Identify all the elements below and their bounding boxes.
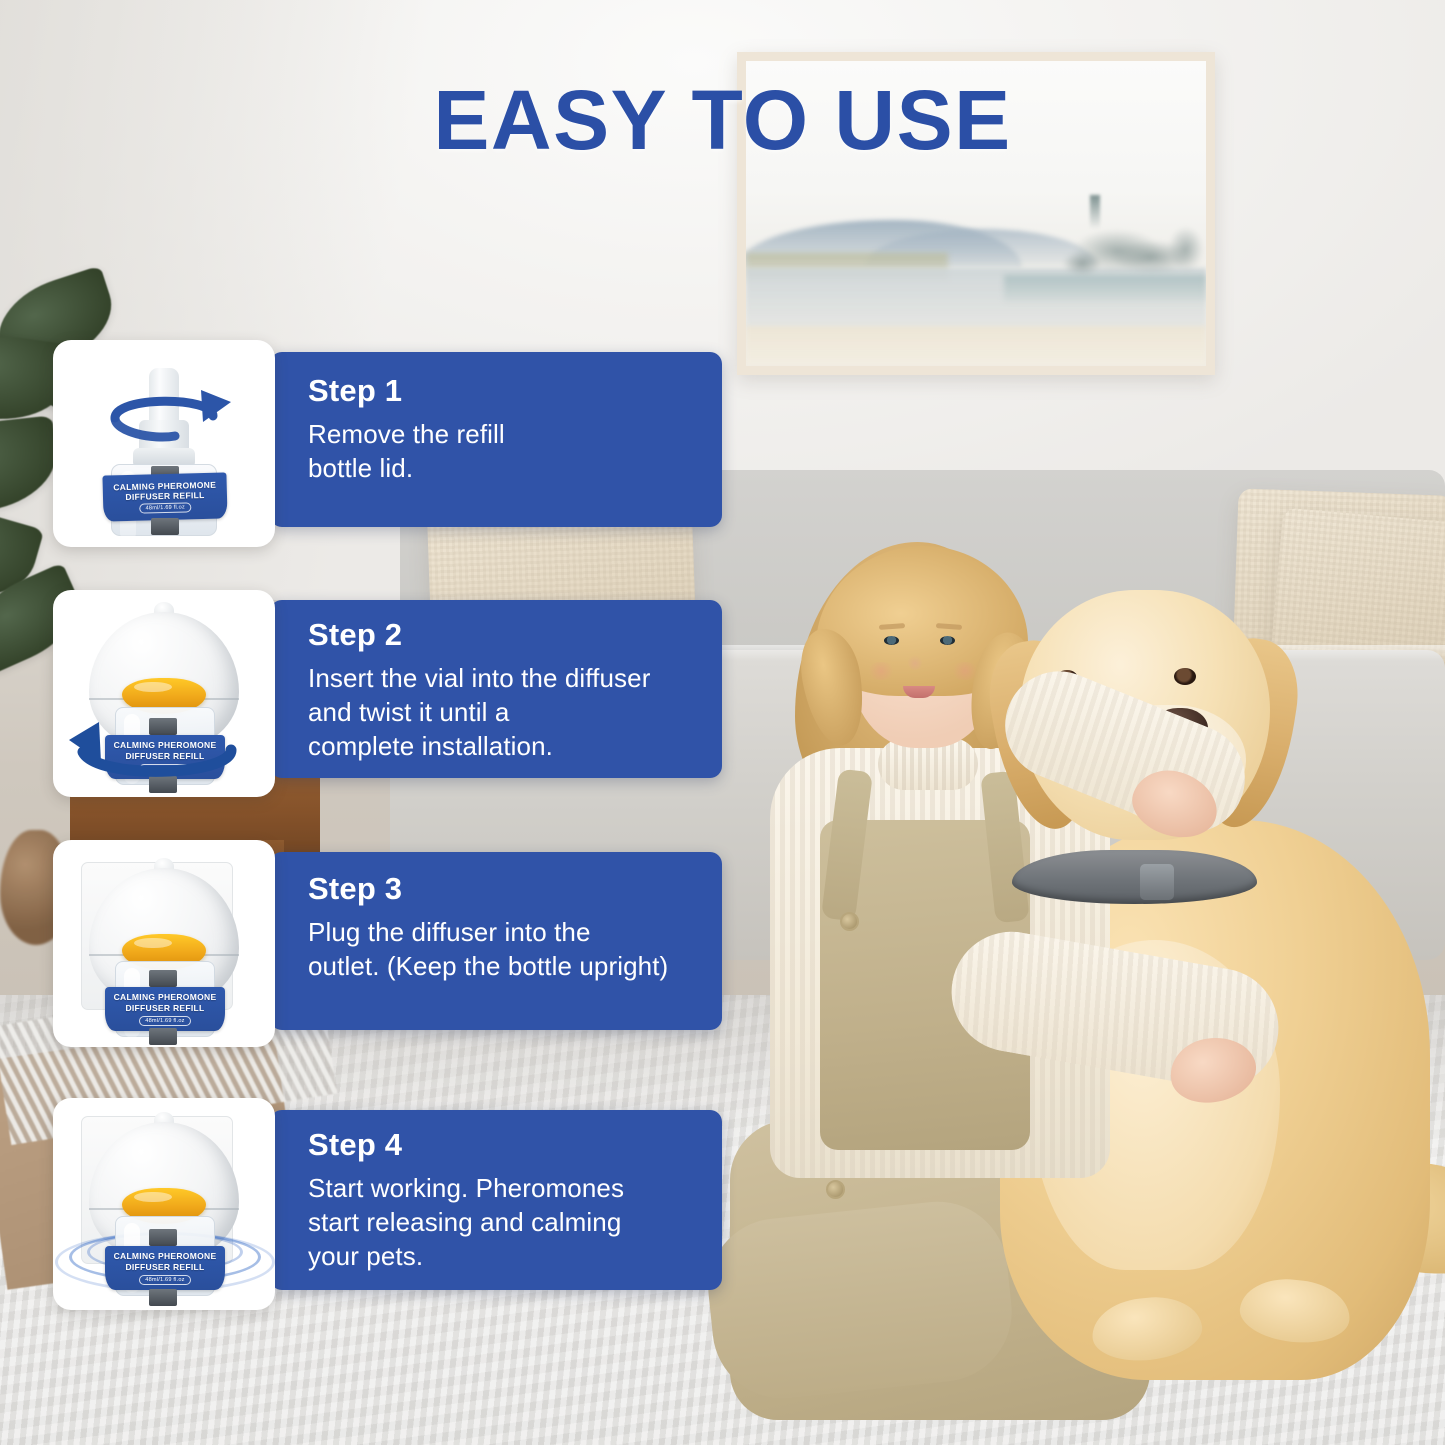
label-volume: 48ml/1.69 fl.oz — [139, 1275, 190, 1285]
refill-bottle-illustration: CALMING PHEROMONE DIFFUSER REFILL 48ml/1… — [53, 340, 275, 547]
label-line-2: DIFFUSER REFILL — [125, 751, 204, 761]
diffuser-working-illustration: CALMING PHEROMONE DIFFUSER REFILL 48ml/1… — [53, 1098, 275, 1310]
step-body-3: Plug the diffuser into the outlet. (Keep… — [308, 916, 696, 984]
label-line-1: CALMING PHEROMONE — [114, 1251, 217, 1261]
step-body-1: Remove the refill bottle lid. — [308, 418, 696, 486]
bottle-metal-clip — [149, 718, 177, 735]
label-line-2: DIFFUSER REFILL — [125, 1262, 204, 1272]
steps-list: Step 1 Remove the refill bottle lid. CAL… — [0, 0, 1445, 1445]
label-line-1: CALMING PHEROMONE — [114, 992, 217, 1002]
step-card-4[interactable]: Step 4 Start working. Pheromones start r… — [270, 1110, 722, 1290]
diffuser-plugged-illustration: CALMING PHEROMONE DIFFUSER REFILL 48ml/1… — [53, 840, 275, 1047]
bottle-label: CALMING PHEROMONE DIFFUSER REFILL 48ml/1… — [105, 1246, 225, 1290]
step-body-4: Start working. Pheromones start releasin… — [308, 1172, 696, 1273]
step-title-3: Step 3 — [308, 872, 696, 906]
bottle-metal-clip — [149, 1229, 177, 1246]
label-volume: 48ml/1.69 fl.oz — [139, 764, 190, 774]
step-thumbnail-3[interactable]: CALMING PHEROMONE DIFFUSER REFILL 48ml/1… — [53, 840, 275, 1047]
label-volume: 48ml/1.69 fl.oz — [139, 502, 191, 513]
infographic-canvas: EASY TO USE Step 1 Remove the refill bot… — [0, 0, 1445, 1445]
step-thumbnail-2[interactable]: CALMING PHEROMONE DIFFUSER REFILL 48ml/1… — [53, 590, 275, 797]
step-card-1[interactable]: Step 1 Remove the refill bottle lid. — [270, 352, 722, 527]
step-title-4: Step 4 — [308, 1128, 696, 1162]
bottle-metal-clip — [149, 970, 177, 987]
bottle-metal-clip — [149, 1028, 177, 1045]
step-thumbnail-4[interactable]: CALMING PHEROMONE DIFFUSER REFILL 48ml/1… — [53, 1098, 275, 1310]
label-line-2: DIFFUSER REFILL — [125, 490, 204, 502]
bottle-nozzle — [149, 368, 179, 428]
label-line-1: CALMING PHEROMONE — [114, 740, 217, 750]
step-card-3[interactable]: Step 3 Plug the diffuser into the outlet… — [270, 852, 722, 1030]
bottle-metal-clip — [151, 518, 179, 535]
bottle-label: CALMING PHEROMONE DIFFUSER REFILL 48ml/1… — [105, 987, 225, 1031]
step-body-2: Insert the vial into the diffuser and tw… — [308, 662, 696, 763]
bottle-label: CALMING PHEROMONE DIFFUSER REFILL 48ml/1… — [102, 472, 227, 521]
step-thumbnail-1[interactable]: CALMING PHEROMONE DIFFUSER REFILL 48ml/1… — [53, 340, 275, 547]
label-volume: 48ml/1.69 fl.oz — [139, 1016, 190, 1026]
step-title-1: Step 1 — [308, 374, 696, 408]
bottle-metal-clip — [149, 1289, 177, 1306]
step-card-2[interactable]: Step 2 Insert the vial into the diffuser… — [270, 600, 722, 778]
bottle-label: CALMING PHEROMONE DIFFUSER REFILL 48ml/1… — [105, 735, 225, 779]
bottle-metal-clip — [149, 776, 177, 793]
step-title-2: Step 2 — [308, 618, 696, 652]
diffuser-insert-illustration: CALMING PHEROMONE DIFFUSER REFILL 48ml/1… — [53, 590, 275, 797]
label-line-2: DIFFUSER REFILL — [125, 1003, 204, 1013]
